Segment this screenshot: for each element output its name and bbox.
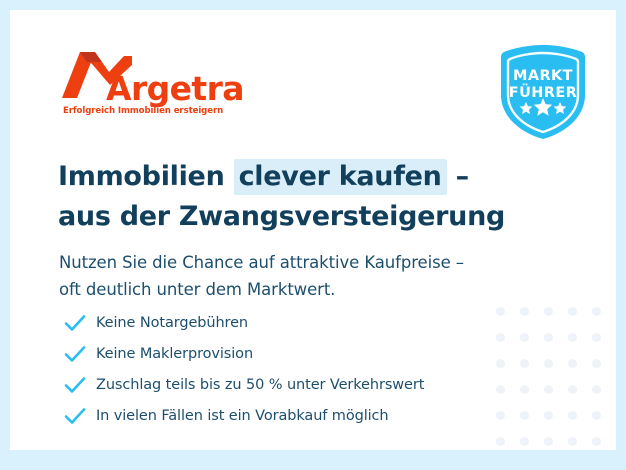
dot	[592, 359, 601, 368]
dot	[544, 307, 553, 316]
check-icon	[63, 311, 87, 335]
headline-highlight: clever kaufen	[234, 159, 447, 195]
promo-card: Argetra Erfolgreich Immobilien ersteiger…	[10, 10, 616, 450]
market-leader-badge: MARKT FÜHRER	[497, 43, 589, 141]
logo-tagline: Erfolgreich Immobilien ersteigern	[63, 106, 223, 116]
dot	[568, 411, 577, 420]
dot	[568, 333, 577, 342]
headline: Immobilien clever kaufen – aus der Zwang…	[58, 159, 578, 235]
dot	[544, 359, 553, 368]
headline-part-2: –	[447, 161, 469, 192]
dot	[496, 437, 505, 446]
promo-banner: Argetra Erfolgreich Immobilien ersteiger…	[0, 0, 626, 470]
dot	[568, 307, 577, 316]
subheadline-line-2: oft deutlich unter dem Marktwert.	[59, 276, 579, 303]
subheadline: Nutzen Sie die Chance auf attraktive Kau…	[59, 249, 579, 303]
argetra-logo[interactable]: Argetra Erfolgreich Immobilien ersteiger…	[62, 52, 262, 118]
dot	[592, 411, 601, 420]
check-icon	[63, 342, 87, 366]
dot	[544, 437, 553, 446]
badge-line-1: MARKT	[497, 69, 589, 84]
dot	[520, 437, 529, 446]
check-icon	[63, 373, 87, 397]
list-item: Keine Maklerprovision	[63, 338, 533, 369]
check-icon	[63, 404, 87, 428]
dot	[544, 385, 553, 394]
dot	[568, 437, 577, 446]
list-item-label: Keine Notargebühren	[96, 315, 248, 331]
headline-part-1: Immobilien	[58, 161, 234, 192]
list-item: In vielen Fällen ist ein Vorabkauf mögli…	[63, 400, 533, 431]
list-item-label: Keine Maklerprovision	[96, 346, 253, 362]
logo-wordmark: Argetra	[106, 72, 244, 105]
list-item: Keine Notargebühren	[63, 307, 533, 338]
dot	[568, 359, 577, 368]
dot	[592, 307, 601, 316]
benefits-list: Keine Notargebühren Keine Maklerprovisio…	[63, 307, 533, 431]
list-item-label: Zuschlag teils bis zu 50 % unter Verkehr…	[96, 377, 424, 393]
dot	[592, 437, 601, 446]
headline-line-2: aus der Zwangsversteigerung	[58, 199, 578, 235]
dot	[592, 333, 601, 342]
list-item-label: In vielen Fällen ist ein Vorabkauf mögli…	[96, 408, 389, 424]
list-item: Zuschlag teils bis zu 50 % unter Verkehr…	[63, 369, 533, 400]
dot	[592, 385, 601, 394]
dot	[568, 385, 577, 394]
dot	[544, 411, 553, 420]
dot	[544, 333, 553, 342]
subheadline-line-1: Nutzen Sie die Chance auf attraktive Kau…	[59, 249, 579, 276]
badge-line-2: FÜHRER	[497, 86, 589, 101]
